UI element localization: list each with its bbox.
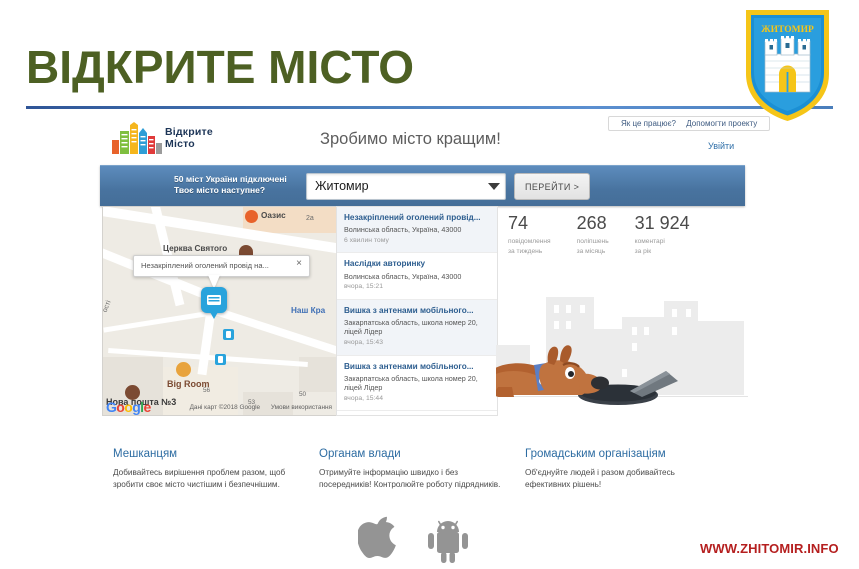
app-store-icons <box>358 516 498 564</box>
stats-row: 74 повідомлення за тиждень 268 поліпшень… <box>508 214 744 257</box>
list-item[interactable]: Наслідки авторинку Волинська область, Ук… <box>337 253 497 299</box>
site-slogan: Зробимо місто кращим! <box>320 130 501 149</box>
logo-line-1: Відкрите <box>165 127 213 139</box>
map-label: 56 <box>203 387 210 394</box>
map-poi-icon <box>245 210 258 223</box>
report-title: Вишка з антенами мобільного... <box>344 306 490 316</box>
stat-label-line-2: за тиждень <box>508 247 551 257</box>
stat-label: коментарі за рік <box>635 237 690 257</box>
stat-value: 74 <box>508 214 551 232</box>
google-logo: Google <box>106 400 151 414</box>
page-title: ВІДКРИТЕ МІСТО <box>26 44 414 90</box>
column-residents: Мешканцям Добивайтесь вирішення проблем … <box>113 448 319 491</box>
bar-caption-line-1: 50 міст України підключені <box>174 174 287 185</box>
stat-value: 268 <box>577 214 609 232</box>
report-title: Вишка з антенами мобільного... <box>344 362 490 372</box>
map-widget[interactable]: Оазис 2а Церква Святого Наш Кра ості Big… <box>102 206 337 416</box>
stat-value: 31 924 <box>635 214 690 232</box>
report-icon <box>201 287 227 313</box>
coat-of-arms-city-name: ЖИТОМИР <box>761 25 814 35</box>
top-nav[interactable]: Як це працює? Допомогти проекту <box>608 116 770 131</box>
stat-label-line-1: повідомлення <box>508 237 551 247</box>
map-label: 50 <box>299 391 306 398</box>
city-select-value: Житомир <box>315 179 369 193</box>
column-title: Громадським організаціям <box>525 448 715 462</box>
column-authorities: Органам влади Отримуйте інформацію швидк… <box>319 448 525 491</box>
report-address: Закарпатська область, школа номер 20, лі… <box>344 374 490 393</box>
map-data-credit: Дані карт ©2018 Google <box>190 404 261 411</box>
stat-label-line-1: поліпшень <box>577 237 609 247</box>
close-icon[interactable]: × <box>296 259 302 269</box>
go-button[interactable]: ПЕРЕЙТИ > <box>514 173 590 200</box>
stat-reports: 74 повідомлення за тиждень <box>508 214 551 257</box>
logo-text: Відкрите Місто <box>165 127 213 151</box>
stat-label-line-2: за рік <box>635 247 690 257</box>
report-address: Волинська область, Україна, 43000 <box>344 225 490 234</box>
list-item[interactable]: Вишка з антенами мобільного... Закарпатс… <box>337 300 497 356</box>
stat-comments: 31 924 коментарі за рік <box>635 214 690 257</box>
report-address: Закарпатська область, школа номер 20, лі… <box>344 318 490 337</box>
report-time: вчора, 15:44 <box>344 395 490 404</box>
report-address: Волинська область, Україна, 43000 <box>344 272 490 281</box>
map-label: Наш Кра <box>291 306 325 315</box>
bar-caption: 50 міст України підключені Твоє місто на… <box>174 174 287 197</box>
map-label: Церква Святого <box>163 244 227 253</box>
column-title: Органам влади <box>319 448 509 462</box>
stat-label-line-1: коментарі <box>635 237 690 247</box>
site-logo[interactable]: Відкрите Місто <box>112 122 232 156</box>
column-title: Мешканцям <box>113 448 303 462</box>
city-select-bar: 50 міст України підключені Твоє місто на… <box>100 165 745 206</box>
report-time: вчора, 15:21 <box>344 283 490 292</box>
website-screenshot: Як це працює? Допомогти проекту Увійти <box>100 114 748 434</box>
reports-feed[interactable]: Незакріплений оголений провід... Волинсь… <box>336 206 498 416</box>
report-title: Наслідки авторинку <box>344 259 490 269</box>
android-icon[interactable] <box>424 519 472 563</box>
features-columns: Мешканцям Добивайтесь вирішення проблем … <box>113 448 733 491</box>
column-body: Отримуйте інформацію швидко і без посере… <box>319 467 509 491</box>
zhytomyr-coat-of-arms: ЖИТОМИР <box>740 6 835 124</box>
map-marker[interactable] <box>215 354 226 365</box>
nav-item-how-it-works[interactable]: Як це працює? <box>617 119 680 128</box>
dog-illustration <box>496 337 690 409</box>
watermark-url: WWW.ZHITOMIR.INFO <box>700 541 839 556</box>
report-time: 6 хвилин тому <box>344 237 490 246</box>
list-item[interactable]: Незакріплений оголений провід... Волинсь… <box>337 207 497 253</box>
stat-improvements: 268 поліпшень за місяць <box>577 214 609 257</box>
chevron-down-icon <box>488 183 500 190</box>
bar-caption-line-2: Твоє місто наступне? <box>174 185 287 196</box>
map-label: Оазис <box>261 211 286 220</box>
coat-of-arms-shield: ЖИТОМИР <box>740 6 835 124</box>
map-attribution: Дані карт ©2018 Google Умови використанн… <box>181 404 332 411</box>
map-terms-link[interactable]: Умови використання <box>271 404 332 411</box>
column-body: Добивайтесь вирішення проблем разом, щоб… <box>113 467 303 491</box>
stat-label-line-2: за місяць <box>577 247 609 257</box>
buildings-logo-icon <box>112 122 162 154</box>
map-marker[interactable] <box>223 329 234 340</box>
logo-line-2: Місто <box>165 139 213 151</box>
map-marker-selected[interactable] <box>201 287 227 313</box>
hero-illustration <box>496 289 748 415</box>
building-silhouette <box>698 321 744 395</box>
map-popup-text: Незакріплений оголений провід на... <box>141 261 269 270</box>
title-divider <box>26 106 833 109</box>
apple-icon[interactable] <box>358 516 404 564</box>
report-time: вчора, 15:43 <box>344 339 490 348</box>
login-link[interactable]: Увійти <box>708 141 734 151</box>
nav-item-support-project[interactable]: Допомогти проекту <box>682 119 761 128</box>
map-label: 2а <box>306 215 314 222</box>
city-select-dropdown[interactable]: Житомир <box>306 173 506 200</box>
stat-label: повідомлення за тиждень <box>508 237 551 257</box>
map-poi-icon <box>176 362 191 377</box>
report-title: Незакріплений оголений провід... <box>344 213 490 223</box>
stat-label: поліпшень за місяць <box>577 237 609 257</box>
column-ngos: Громадським організаціям Об'єднуйте люде… <box>525 448 731 491</box>
list-item[interactable]: Вишка з антенами мобільного... Закарпатс… <box>337 356 497 412</box>
map-popup[interactable]: Незакріплений оголений провід на... × <box>133 255 310 277</box>
column-body: Об'єднуйте людей і разом добивайтесь ефе… <box>525 467 715 491</box>
